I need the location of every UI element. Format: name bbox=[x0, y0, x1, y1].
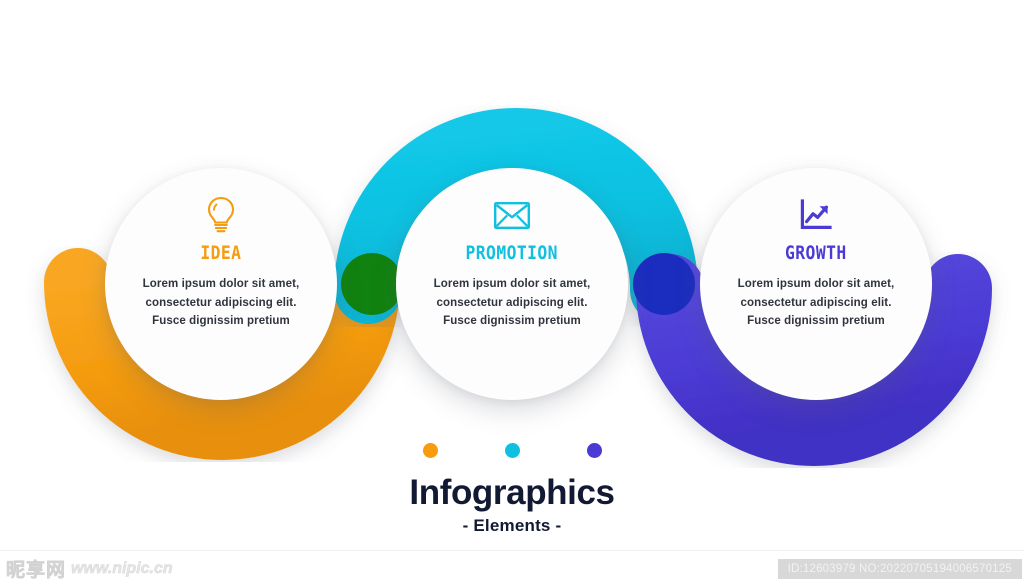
card-description-growth: Lorem ipsum dolor sit amet, consectetur … bbox=[727, 275, 905, 331]
growth-chart-icon bbox=[799, 194, 833, 236]
watermark-logo: 昵享网 www.nipic.cn bbox=[6, 555, 173, 582]
envelope-icon bbox=[494, 194, 530, 236]
dot-orange bbox=[423, 443, 438, 458]
card-description-promotion: Lorem ipsum dolor sit amet, consectetur … bbox=[423, 275, 601, 331]
step-card-idea[interactable]: IDEA Lorem ipsum dolor sit amet, consect… bbox=[105, 168, 337, 400]
brand-title: Infographics bbox=[409, 475, 614, 510]
lightbulb-icon bbox=[205, 194, 237, 236]
watermark-id-text: ID:12603979 NO:20220705194006570125 bbox=[778, 559, 1022, 579]
watermark-site-name-cn: 昵享网 bbox=[6, 555, 66, 582]
footer-dots bbox=[423, 443, 602, 458]
step-card-promotion[interactable]: PROMOTION Lorem ipsum dolor sit amet, co… bbox=[396, 168, 628, 400]
junction-dot-cyan-purple bbox=[633, 253, 695, 315]
junction-dot-orange-cyan bbox=[341, 253, 403, 315]
dot-cyan bbox=[505, 443, 520, 458]
step-card-growth[interactable]: GROWTH Lorem ipsum dolor sit amet, conse… bbox=[700, 168, 932, 400]
card-title-growth: GROWTH bbox=[785, 242, 847, 264]
dot-purple bbox=[587, 443, 602, 458]
infographic-canvas: IDEA Lorem ipsum dolor sit amet, consect… bbox=[0, 0, 1024, 586]
brand-subtitle: - Elements - bbox=[463, 517, 562, 534]
footer-branding: Infographics - Elements - bbox=[0, 443, 1024, 534]
watermark-bar: 昵享网 www.nipic.cn ID:12603979 NO:20220705… bbox=[0, 550, 1024, 586]
card-description-idea: Lorem ipsum dolor sit amet, consectetur … bbox=[132, 275, 310, 331]
card-title-promotion: PROMOTION bbox=[466, 242, 558, 264]
watermark-site-url: www.nipic.cn bbox=[71, 560, 173, 578]
card-title-idea: IDEA bbox=[200, 242, 241, 264]
